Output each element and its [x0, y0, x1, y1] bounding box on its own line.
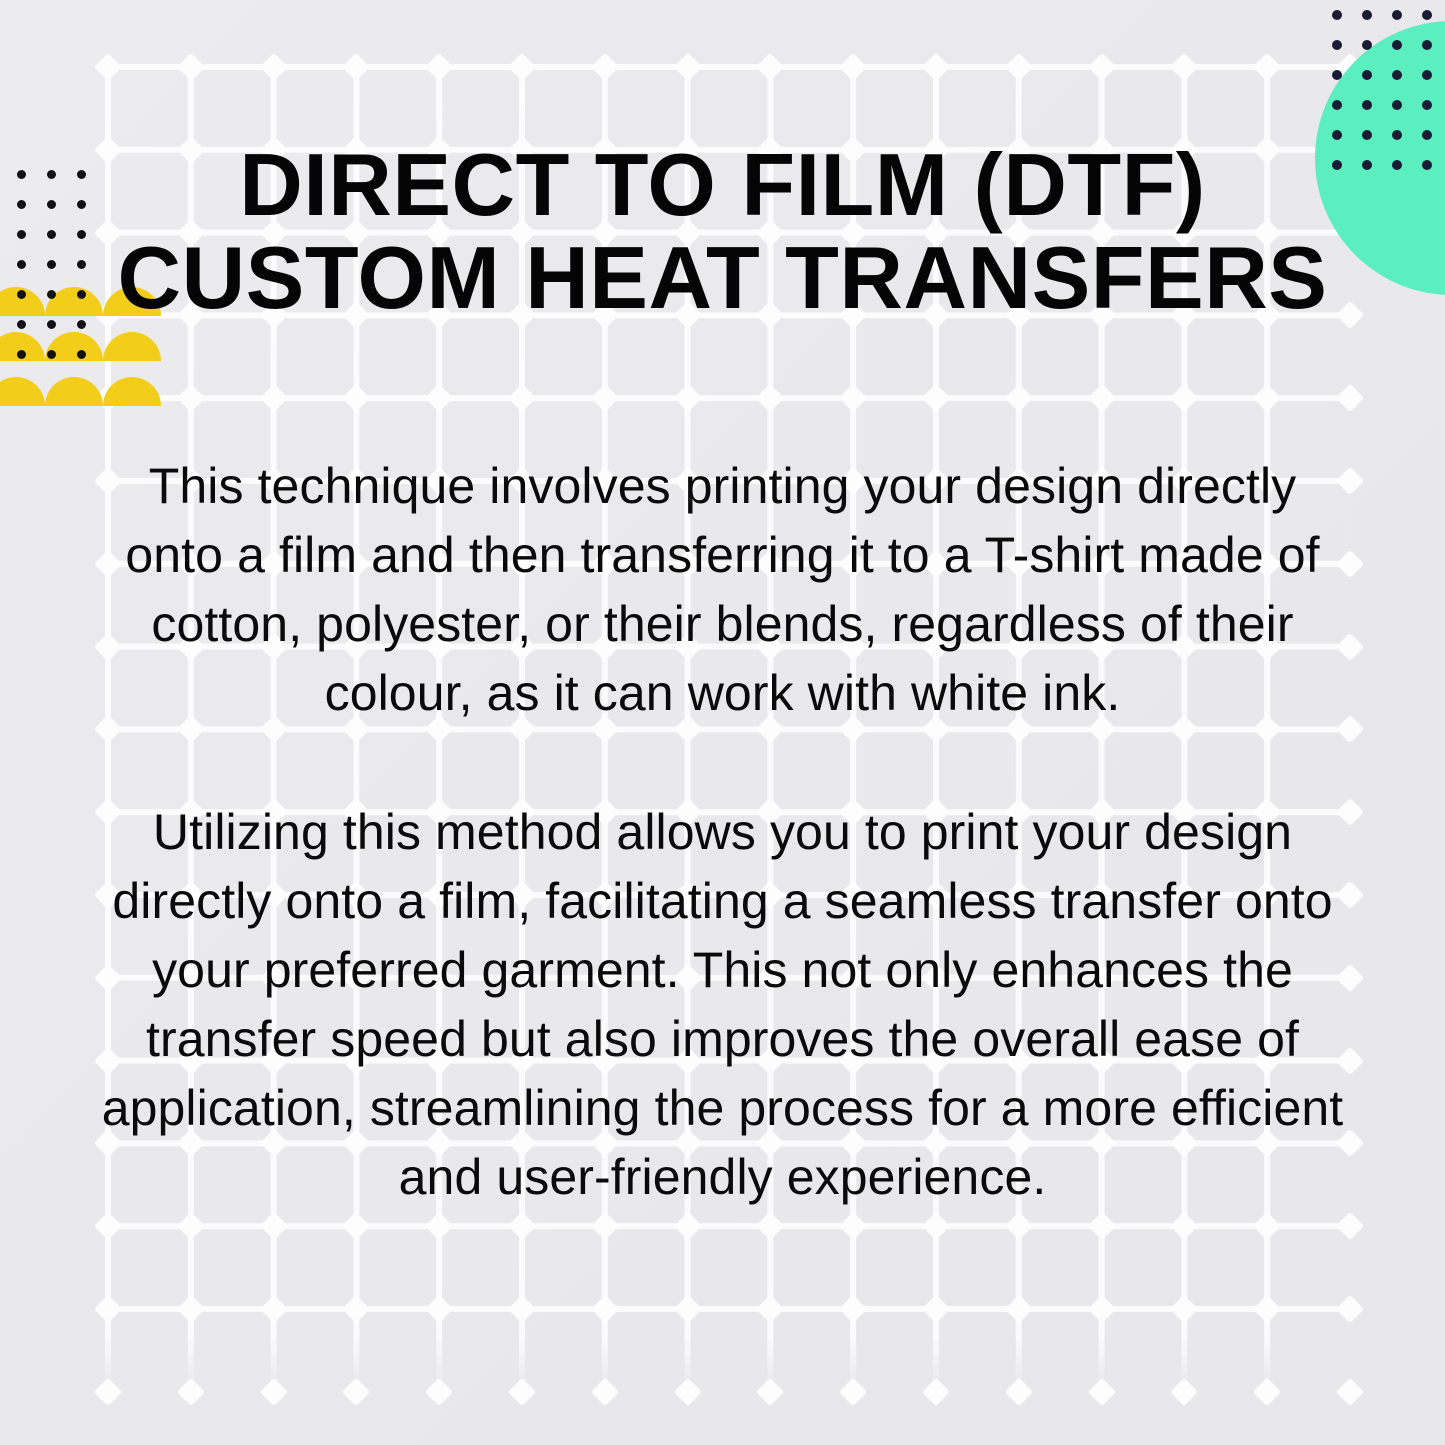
title-line-2: CUSTOM HEAT TRANSFERS — [90, 231, 1355, 324]
poster-canvas: DIRECT TO FILM (DTF) CUSTOM HEAT TRANSFE… — [0, 0, 1445, 1445]
title-line-1: DIRECT TO FILM (DTF) — [90, 138, 1355, 231]
body-copy: This technique involves printing your de… — [95, 452, 1350, 1212]
paragraph-2: Utilizing this method allows you to prin… — [95, 798, 1350, 1212]
paragraph-1: This technique involves printing your de… — [95, 452, 1350, 728]
page-title: DIRECT TO FILM (DTF) CUSTOM HEAT TRANSFE… — [90, 138, 1355, 324]
